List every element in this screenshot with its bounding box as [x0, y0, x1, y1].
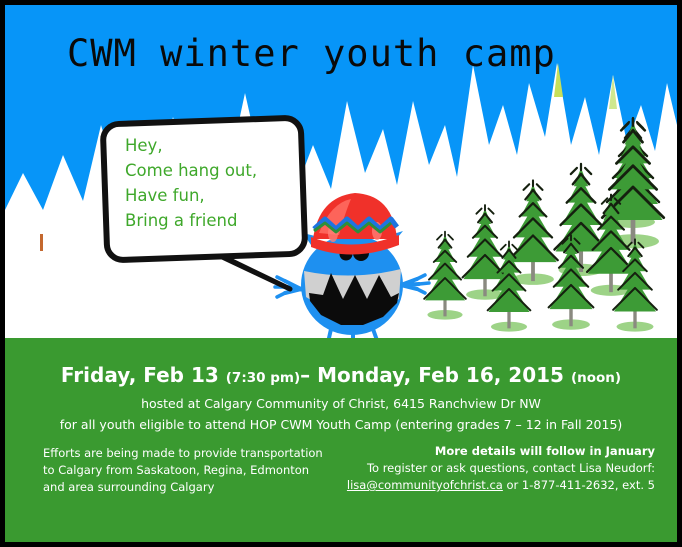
bubble-line-3: Have fun, [125, 183, 305, 208]
event-date-line: Friday, Feb 13 (7:30 pm)– Monday, Feb 16… [5, 363, 677, 387]
speech-bubble-text: Hey, Come hang out, Have fun, Bring a fr… [125, 133, 305, 233]
transportation-line-2: to Calgary from Saskatoon, Regina, Edmon… [43, 462, 343, 479]
contact-email-row: lisa@communityofchrist.ca or 1-877-411-2… [335, 477, 655, 494]
speech-bubble: Hey, Come hang out, Have fun, Bring a fr… [100, 117, 330, 297]
page-title: CWM winter youth camp [67, 32, 627, 76]
start-time: (7:30 pm) [226, 370, 300, 386]
end-day: Monday, Feb 16, 2015 [317, 363, 564, 387]
poster-flyer: CWM winter youth camp Hey, Come hang out… [0, 0, 682, 547]
orange-tick-mark [40, 234, 43, 251]
bubble-line-1: Hey, [125, 133, 305, 158]
hosted-location-line: hosted at Calgary Community of Christ, 6… [5, 396, 677, 411]
transportation-line-1: Efforts are being made to provide transp… [43, 445, 343, 462]
transportation-note: Efforts are being made to provide transp… [43, 445, 343, 496]
contact-phone-text: or 1-877-411-2632, ext. 5 [503, 478, 655, 492]
bubble-line-2: Come hang out, [125, 158, 305, 183]
contact-note: More details will follow in January To r… [335, 443, 655, 494]
contact-register-line: To register or ask questions, contact Li… [335, 460, 655, 477]
date-separator: – [300, 363, 310, 387]
info-banner: Friday, Feb 13 (7:30 pm)– Monday, Feb 16… [5, 338, 677, 542]
transportation-line-3: and area surrounding Calgary [43, 479, 343, 496]
contact-heading: More details will follow in January [335, 443, 655, 460]
start-day: Friday, Feb 13 [61, 363, 219, 387]
eligibility-line: for all youth eligible to attend HOP CWM… [5, 417, 677, 432]
end-time: (noon) [571, 370, 621, 386]
bubble-line-4: Bring a friend [125, 208, 305, 233]
contact-email-link[interactable]: lisa@communityofchrist.ca [347, 478, 503, 492]
